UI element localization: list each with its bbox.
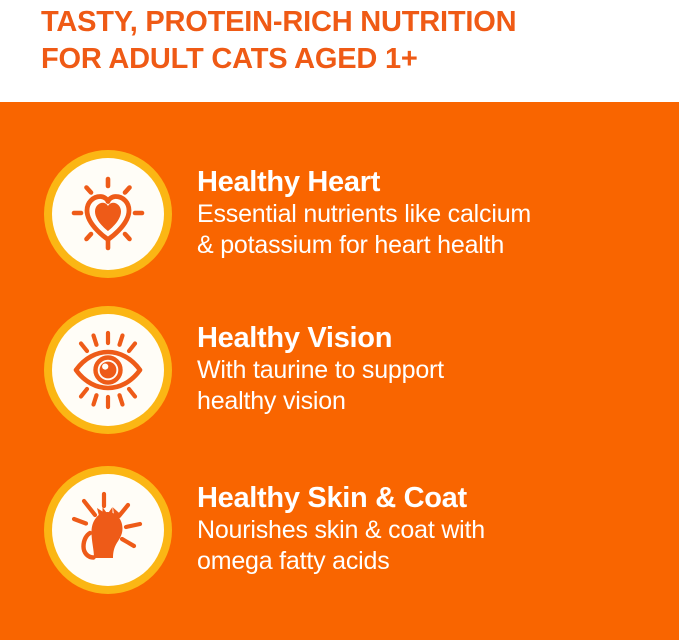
feature-text-healthy-skin-coat: Healthy Skin & Coat Nourishes skin & coa…	[197, 481, 679, 579]
feature-row-healthy-heart: Healthy Heart Essential nutrients like c…	[0, 144, 679, 284]
feature-title: Healthy Skin & Coat	[197, 481, 679, 515]
icon-badge-healthy-vision	[44, 306, 172, 434]
header-title-line-2: FOR ADULT CATS AGED 1+	[41, 41, 679, 78]
feature-text-healthy-vision: Healthy Vision With taurine to support h…	[197, 321, 679, 419]
feature-title: Healthy Heart	[197, 165, 679, 199]
benefits-panel: Healthy Heart Essential nutrients like c…	[0, 102, 679, 640]
cat-rays-icon	[64, 486, 152, 574]
feature-row-healthy-vision: Healthy Vision With taurine to support h…	[0, 300, 679, 440]
feature-desc-line-1: With taurine to support	[197, 355, 679, 386]
badge-inner-circle	[52, 158, 164, 270]
header-title-line-1: TASTY, PROTEIN-RICH NUTRITION	[41, 4, 679, 41]
header-banner: TASTY, PROTEIN-RICH NUTRITION FOR ADULT …	[0, 0, 679, 102]
icon-badge-healthy-heart	[44, 150, 172, 278]
badge-inner-circle	[52, 474, 164, 586]
feature-desc-line-1: Nourishes skin & coat with	[197, 515, 679, 546]
heart-rays-icon	[64, 170, 152, 258]
badge-inner-circle	[52, 314, 164, 426]
icon-badge-healthy-skin-coat	[44, 466, 172, 594]
feature-desc-line-2: healthy vision	[197, 386, 679, 417]
feature-desc-line-2: omega fatty acids	[197, 546, 679, 577]
eye-rays-icon	[64, 326, 152, 414]
feature-title: Healthy Vision	[197, 321, 679, 355]
feature-text-healthy-heart: Healthy Heart Essential nutrients like c…	[197, 165, 679, 263]
nutrition-infographic: TASTY, PROTEIN-RICH NUTRITION FOR ADULT …	[0, 0, 679, 640]
feature-row-healthy-skin-coat: Healthy Skin & Coat Nourishes skin & coa…	[0, 460, 679, 600]
feature-desc-line-2: & potassium for heart health	[197, 230, 679, 261]
feature-desc-line-1: Essential nutrients like calcium	[197, 199, 679, 230]
